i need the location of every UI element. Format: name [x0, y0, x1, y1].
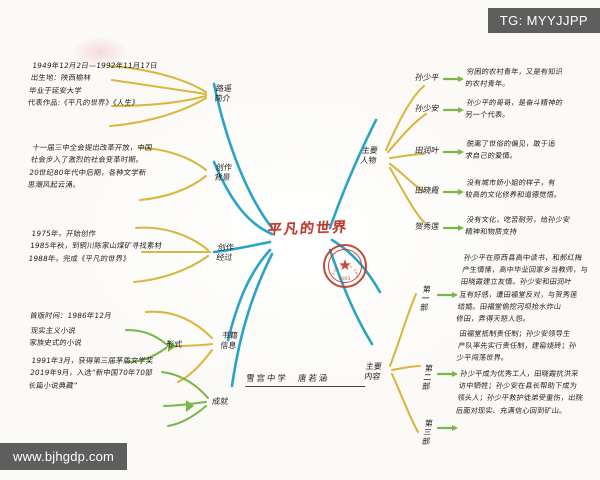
school-seal-icon: XUE GONG ZHONG XUE ★ 1903 [323, 244, 367, 288]
author-signature: 雪宫中学 唐若涵 [245, 372, 367, 387]
branch-label-book-info[interactable]: 书籍 信息 [211, 331, 248, 351]
mindmap-canvas: 平凡的世界 XUE GONG ZHONG XUE ★ 1903 雪宫中学 唐若涵… [0, 0, 600, 480]
svg-text:XUE GONG ZHONG XUE: XUE GONG ZHONG XUE [325, 246, 359, 278]
character-name-tianrunye[interactable]: 田润叶 [407, 146, 446, 156]
character-name-hexiulian[interactable]: 贺秀莲 [407, 222, 446, 232]
content-part-1-text: 孙少平在原西县高中读书，和郝红梅 产生情愫，高中毕业回家乡当教师，与 田晓霞建立… [456, 252, 600, 325]
text-form: 现实主义小说 家族史式的小说 [28, 325, 206, 350]
content-part-3-text: 孙少平成为优秀工人，田晓霞抗洪采 访中牺牲；孙少安在县长帮助下成为 领头人；孙少… [455, 368, 600, 417]
text-book-info: 首版时间：1986年12月 [29, 310, 206, 322]
character-name-sunshaoan[interactable]: 孙少安 [407, 104, 446, 114]
character-name-tianxiaoxia[interactable]: 田晓霞 [407, 186, 446, 196]
watermark-top-right: TG: MYYJJPP [488, 8, 600, 33]
character-desc-hexiulian: 没有文化，吃苦耐劳，给孙少安 精神和物质支持 [465, 214, 600, 238]
branch-label-luyao-intro[interactable]: 路遥 简介 [205, 84, 242, 104]
character-name-sunshaoping[interactable]: 孙少平 [407, 73, 446, 83]
seal-star-icon: ★ [338, 258, 351, 273]
text-luyao-intro: 1949年12月2日—1992年11月17日 出生地：陕西榆林 毕业于延安大学 … [27, 60, 213, 110]
branch-label-main-content[interactable]: 主要 内容 [355, 362, 392, 382]
text-creation-process: 1975年，开始创作 1985年秋，到铜川陈家山煤矿寻找素材 1988年，完成《… [28, 228, 218, 265]
branch-label-creation-background[interactable]: 创作 背景 [205, 163, 242, 183]
character-desc-tianrunye: 脱离了世俗的偏见，敢于追 求自己的爱情。 [465, 138, 600, 162]
character-desc-sunshaoping: 穷困的农村青年，又是有知识 的农村青年。 [465, 66, 600, 90]
seal-year: 1903 [325, 276, 365, 281]
branch-label-main-characters[interactable]: 主要 人物 [351, 146, 388, 166]
branch-label-achievements[interactable]: 成就 [204, 397, 235, 407]
text-achievements: 1991年3月，获得第三届茅盾文学奖 2019年9月，入选“新中国70年70部 … [28, 355, 218, 392]
page-title: 平凡的世界 [267, 217, 349, 240]
content-part-2-text: 田福堂抵制责任制；孙少安领导生 产队率先实行责任制，建窑烧砖；孙 少平闯荡世界。 [456, 328, 600, 365]
character-desc-sunshaoan: 孙少平的哥哥，是奋斗精神的 另一个代表。 [465, 97, 600, 121]
text-creation-background: 十一届三中全会提出改革开放，中国 社会步入了激烈的社会变革时期。 20世纪80年… [27, 142, 213, 192]
watermark-bottom-left: www.bjhgdp.com [0, 443, 127, 470]
character-desc-tianxiaoxia: 没有城市娇小姐的样子，有 较高的文化修养和道德觉悟。 [465, 177, 600, 201]
